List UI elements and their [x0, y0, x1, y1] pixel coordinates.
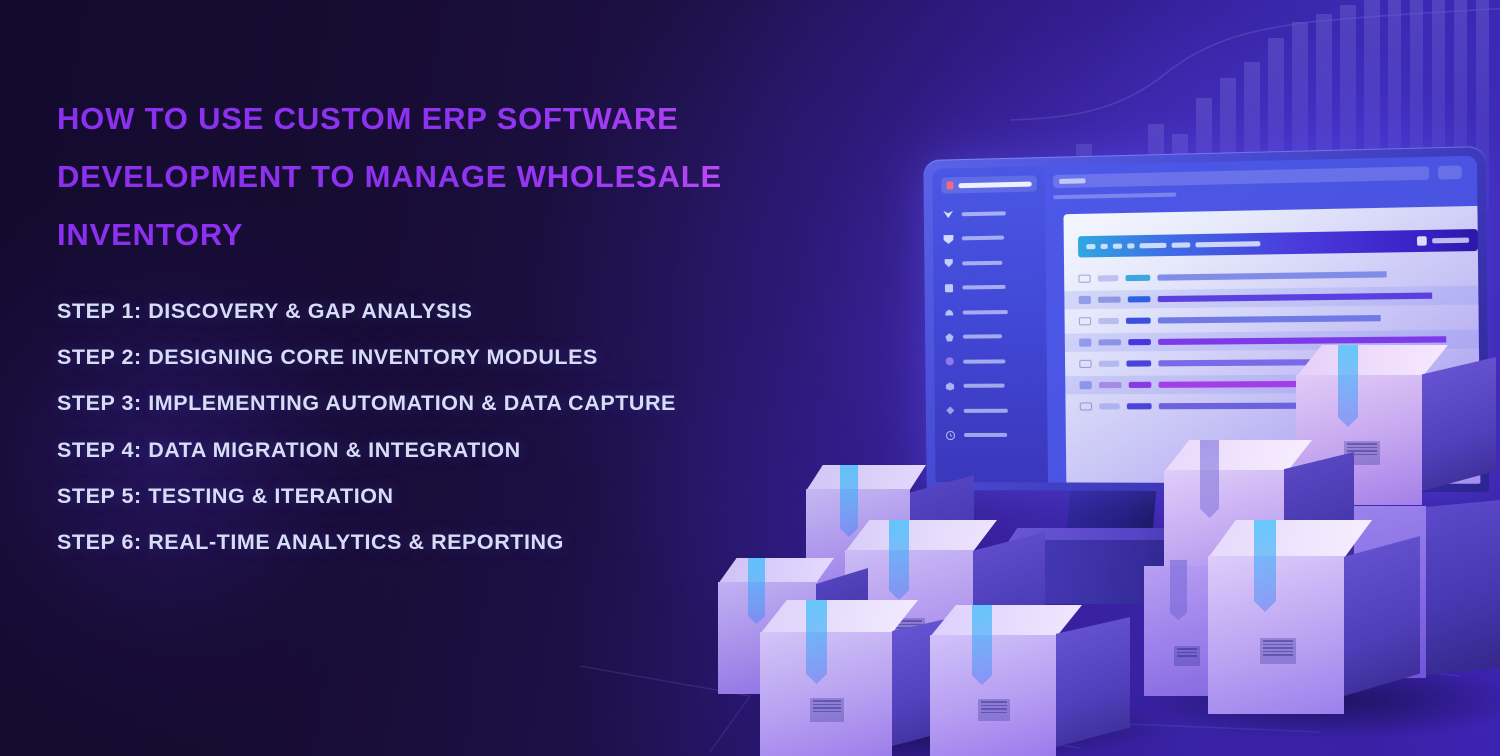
cardboard-box	[930, 605, 1130, 756]
clock-icon	[944, 428, 957, 441]
sidebar-item-7[interactable]	[943, 354, 1039, 368]
step-item-2: STEP 2: DESIGNING CORE INVENTORY MODULES	[57, 340, 737, 375]
step-item-5: STEP 5: TESTING & ITERATION	[57, 479, 737, 514]
breadcrumb	[1053, 193, 1176, 200]
check-icon	[942, 207, 955, 220]
logo-mark-icon	[946, 181, 953, 189]
table-row[interactable]	[1065, 307, 1481, 330]
row-checkbox[interactable]	[1080, 381, 1092, 389]
pentagon-icon	[943, 330, 956, 343]
shipping-label	[810, 698, 844, 722]
cloud-icon	[943, 306, 956, 319]
row-checkbox[interactable]	[1078, 275, 1090, 283]
toolbar-chip[interactable]	[1140, 243, 1167, 249]
square-icon	[942, 281, 955, 294]
poster-canvas: How to Use Custom ERP Software Developme…	[0, 0, 1500, 756]
step-item-3: STEP 3: IMPLEMENTING AUTOMATION & DATA C…	[57, 386, 737, 421]
row-checkbox[interactable]	[1079, 338, 1091, 346]
sidebar-item-label	[964, 433, 1007, 437]
shipping-label	[1174, 646, 1200, 666]
row-cell	[1098, 318, 1119, 324]
select-all-checkbox[interactable]	[1417, 236, 1427, 246]
cardboard-box	[1208, 520, 1420, 715]
search-input[interactable]	[1053, 166, 1429, 188]
sidebar-item-label	[962, 211, 1006, 216]
toolbar-chip[interactable]	[1101, 244, 1108, 249]
sidebar-item-label	[963, 359, 1005, 363]
row-cell	[1098, 275, 1119, 281]
step-item-6: STEP 6: REAL-TIME ANALYTICS & REPORTING	[57, 525, 737, 560]
toolbar-chip[interactable]	[1113, 244, 1122, 249]
sidebar-item-label	[963, 310, 1008, 315]
sidebar-item-label	[962, 236, 1004, 241]
sidebar-item-label	[962, 285, 1005, 290]
sidebar-item-6[interactable]	[943, 329, 1039, 343]
sidebar-item-10[interactable]	[944, 428, 1040, 441]
row-status-badge	[1129, 382, 1152, 388]
sidebar-item-label	[962, 260, 1002, 265]
row-status-badge	[1125, 275, 1150, 281]
row-progress	[1158, 314, 1479, 324]
toolbar-chip[interactable]	[1086, 244, 1095, 249]
table-row[interactable]	[1064, 263, 1480, 288]
dashboard-topbar	[1053, 165, 1477, 188]
toolbar-chip[interactable]	[1172, 242, 1191, 247]
hexagon-icon	[943, 379, 956, 392]
dashboard-sidebar	[932, 166, 1048, 482]
sidebar-item-4[interactable]	[942, 280, 1038, 294]
table-row[interactable]	[1064, 285, 1480, 309]
toolbar-chip[interactable]	[1432, 238, 1469, 244]
text-column: How to Use Custom ERP Software Developme…	[57, 90, 887, 571]
row-cell	[1099, 403, 1120, 409]
row-cell	[1098, 296, 1121, 302]
sidebar-item-9[interactable]	[944, 404, 1040, 417]
row-checkbox[interactable]	[1079, 360, 1091, 368]
row-checkbox[interactable]	[1080, 402, 1092, 410]
shipping-label	[978, 699, 1010, 721]
sidebar-item-label	[964, 408, 1008, 412]
sidebar-item-5[interactable]	[943, 305, 1039, 319]
row-status-badge	[1127, 403, 1152, 409]
step-item-1: STEP 1: DISCOVERY & GAP ANALYSIS	[57, 294, 737, 329]
sidebar-item-2[interactable]	[942, 230, 1037, 245]
row-status-badge	[1128, 296, 1151, 302]
sidebar-item-8[interactable]	[943, 379, 1039, 393]
toolbar-button[interactable]	[1438, 165, 1462, 179]
row-status-badge	[1126, 318, 1151, 324]
sidebar-item-label	[963, 384, 1004, 388]
sidebar-item-label	[963, 334, 1002, 338]
sidebar-item-3[interactable]	[942, 255, 1037, 270]
sidebar-item-1[interactable]	[942, 206, 1037, 221]
table-toolbar[interactable]	[1078, 229, 1478, 258]
circle-icon	[943, 355, 956, 368]
step-item-4: STEP 4: DATA MIGRATION & INTEGRATION	[57, 433, 737, 468]
row-checkbox[interactable]	[1079, 296, 1091, 304]
shipping-label	[1260, 638, 1296, 664]
page-title: How to Use Custom ERP Software Developme…	[57, 90, 887, 264]
row-checkbox[interactable]	[1079, 317, 1091, 325]
diamond-icon	[944, 404, 957, 417]
logo-wordmark	[958, 181, 1031, 188]
row-status-badge	[1128, 339, 1151, 345]
row-progress	[1157, 270, 1478, 281]
toolbar-chip[interactable]	[1127, 243, 1134, 248]
row-cell	[1099, 361, 1120, 367]
row-cell	[1098, 339, 1121, 345]
row-status-badge	[1126, 360, 1151, 366]
row-progress	[1158, 292, 1479, 302]
row-progress	[1158, 336, 1479, 345]
app-logo[interactable]	[941, 175, 1037, 193]
steps-list: STEP 1: DISCOVERY & GAP ANALYSIS STEP 2:…	[57, 294, 887, 561]
badge-icon	[942, 256, 955, 269]
row-cell	[1099, 382, 1122, 388]
shield-icon	[942, 232, 955, 245]
toolbar-chip[interactable]	[1195, 241, 1260, 247]
